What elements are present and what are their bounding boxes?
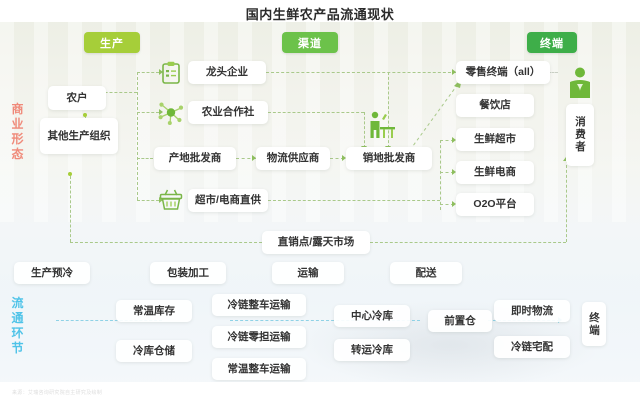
connector-to-origin — [137, 158, 153, 159]
connector-direct-market-right — [370, 242, 566, 243]
node-central-cold-storage[interactable]: 中心冷库 — [334, 305, 410, 327]
connector-producer-riser — [137, 72, 138, 200]
network-icon — [158, 100, 184, 125]
node-retail-terminal-all[interactable]: 零售终端（all） — [456, 61, 550, 84]
connector-to-coop — [137, 112, 159, 113]
node-fresh-ecommerce[interactable]: 生鲜电商 — [456, 161, 534, 184]
connector-coop-down — [364, 112, 365, 148]
node-pre-cooling[interactable]: 生产预冷 — [14, 262, 90, 284]
node-cold-chain-ftl[interactable]: 冷链整车运输 — [212, 294, 306, 316]
node-cold-chain-ltl[interactable]: 冷链零担运输 — [212, 326, 306, 348]
node-instant-logistics[interactable]: 即时物流 — [494, 300, 570, 322]
node-o2o-platform[interactable]: O2O平台 — [456, 193, 534, 216]
node-agri-cooperative[interactable]: 农业合作社 — [188, 101, 268, 124]
node-delivery[interactable]: 配送 — [390, 262, 462, 284]
stage-badge-terminal: 终端 — [527, 32, 577, 53]
clipboard-icon — [160, 61, 182, 85]
node-other-producer-org[interactable]: 其他生产组织 — [40, 118, 118, 154]
connector-farmer-to-direct — [70, 176, 71, 242]
connector-to-direct-supply — [137, 200, 159, 201]
node-destination-wholesaler[interactable]: 销地批发商 — [346, 147, 432, 170]
node-supermarket-direct-supply[interactable]: 超市/电商直供 — [188, 189, 268, 212]
node-transport[interactable]: 运输 — [272, 262, 344, 284]
node-direct-sales-market[interactable]: 直销点/露天市场 — [262, 231, 370, 254]
trader-icon — [366, 110, 398, 140]
node-cold-storage[interactable]: 冷库仓储 — [116, 340, 192, 362]
basket-icon — [158, 188, 184, 212]
connector-direct-supply-right — [268, 200, 440, 201]
side-label-business-form: 商业形态 — [8, 102, 28, 162]
node-farmer[interactable]: 农户 — [48, 86, 106, 110]
node-restaurant[interactable]: 餐饮店 — [456, 94, 534, 117]
node-ambient-inventory[interactable]: 常温库存 — [116, 300, 192, 322]
node-ambient-ftl[interactable]: 常温整车运输 — [212, 358, 306, 380]
node-transit-cold-storage[interactable]: 转运冷库 — [334, 339, 410, 361]
node-logistics-supplier[interactable]: 物流供应商 — [256, 147, 330, 170]
node-cold-chain-home-delivery[interactable]: 冷链宅配 — [494, 336, 570, 358]
node-leading-enterprise[interactable]: 龙头企业 — [188, 61, 266, 84]
stage-badge-channel: 渠道 — [282, 32, 338, 53]
connector-to-leading — [137, 72, 159, 73]
consumer-icon — [566, 66, 594, 100]
node-front-warehouse[interactable]: 前置仓 — [428, 310, 492, 332]
connector-farmer-direct-h — [70, 242, 262, 243]
page-title: 国内生鲜农产品流通现状 — [0, 4, 640, 23]
side-label-logistics-link: 流通环节 — [8, 296, 28, 356]
node-packaging[interactable]: 包装加工 — [150, 262, 226, 284]
node-terminal-endpoint[interactable]: 终端 — [582, 302, 606, 346]
connector-consumer-down — [566, 160, 567, 242]
stage-badge-production: 生产 — [84, 32, 140, 53]
connector-coop-right — [268, 112, 364, 113]
node-consumer[interactable]: 消费者 — [566, 104, 594, 166]
node-fresh-supermarket[interactable]: 生鲜超市 — [456, 128, 534, 151]
source-note: 来源：艾瑞咨询研究院自主研究及绘制 — [12, 389, 102, 396]
node-origin-wholesaler[interactable]: 产地批发商 — [154, 147, 236, 170]
infographic-canvas: 国内生鲜农产品流通现状 生产 渠道 终端 商业形态 流通环节 — [0, 0, 640, 404]
